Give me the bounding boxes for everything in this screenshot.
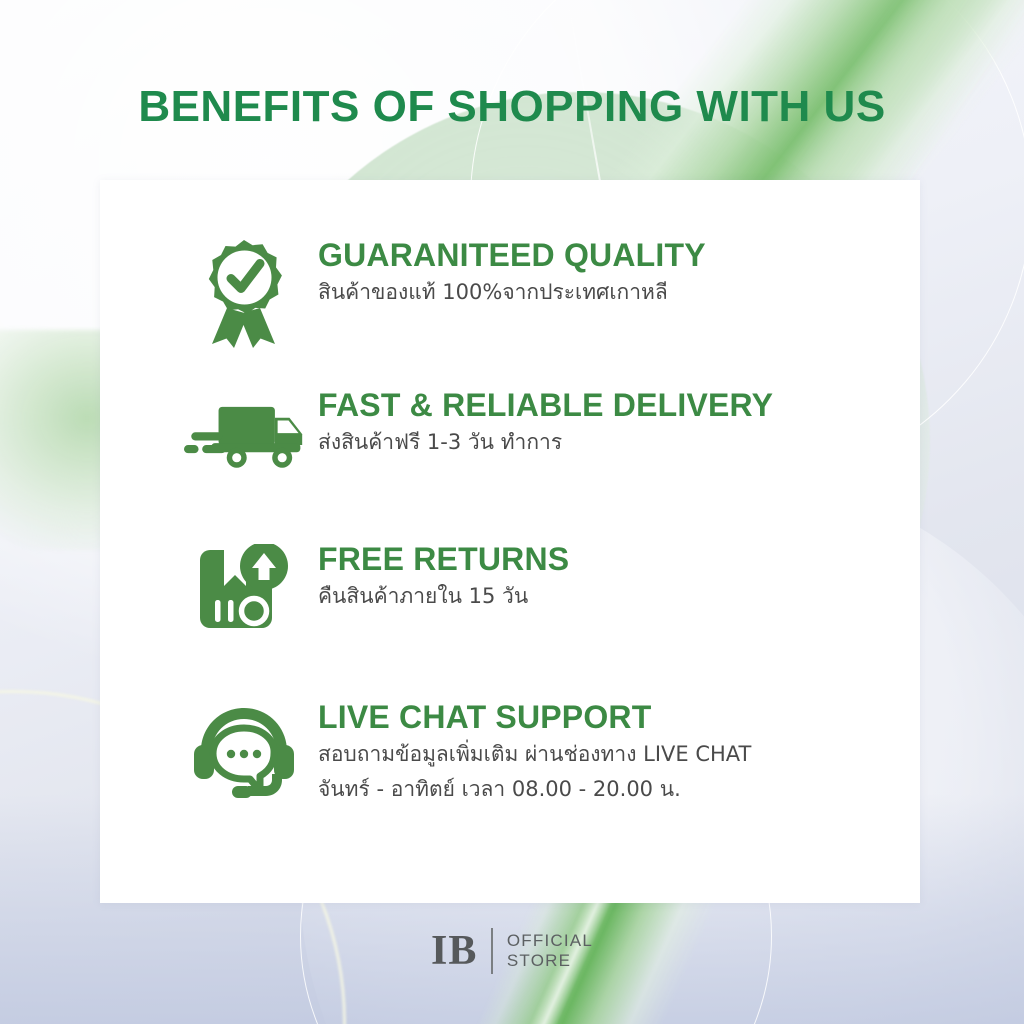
benefit-subtext-line1: สอบถามข้อมูลเพิ่มเติม ผ่านช่องทาง LIVE C…: [318, 739, 751, 771]
page-title: BENEFITS OF SHOPPING WITH US: [0, 82, 1024, 132]
benefits-list: GUARANITEED QUALITY สินค้าของแท้ 100%จาก…: [100, 180, 920, 903]
benefit-text-delivery: FAST & RELIABLE DELIVERY ส่งสินค้าฟรี 1-…: [304, 384, 773, 457]
benefit-heading: FAST & RELIABLE DELIVERY: [318, 388, 773, 423]
delivery-truck-icon: [184, 384, 304, 472]
logo-monogram: IB: [431, 930, 477, 972]
benefits-card: GUARANITEED QUALITY สินค้าของแท้ 100%จาก…: [100, 180, 920, 903]
benefit-heading: GUARANITEED QUALITY: [318, 238, 706, 273]
logo-wordmark: OFFICIAL STORE: [507, 931, 593, 971]
benefit-item-delivery: FAST & RELIABLE DELIVERY ส่งสินค้าฟรี 1-…: [100, 384, 920, 504]
benefit-item-chat: LIVE CHAT SUPPORT สอบถามข้อมูลเพิ่มเติม …: [100, 696, 920, 816]
quality-badge-icon: [184, 234, 304, 348]
benefit-text-returns: FREE RETURNS คืนสินค้าภายใน 15 วัน: [304, 538, 569, 611]
benefit-subtext: ส่งสินค้าฟรี 1-3 วัน ทำการ: [318, 427, 773, 457]
logo-line-store: STORE: [507, 951, 593, 971]
benefit-text-chat: LIVE CHAT SUPPORT สอบถามข้อมูลเพิ่มเติม …: [304, 696, 751, 806]
benefit-item-quality: GUARANITEED QUALITY สินค้าของแท้ 100%จาก…: [100, 234, 920, 354]
benefit-subtext: คืนสินค้าภายใน 15 วัน: [318, 581, 569, 611]
benefit-heading: FREE RETURNS: [318, 542, 569, 577]
logo-divider: [491, 928, 493, 974]
logo-line-official: OFFICIAL: [507, 931, 593, 951]
promo-banner: BENEFITS OF SHOPPING WITH US: [0, 0, 1024, 1024]
return-box-icon: [184, 538, 304, 632]
benefit-item-returns: FREE RETURNS คืนสินค้าภายใน 15 วัน: [100, 538, 920, 658]
benefit-text-quality: GUARANITEED QUALITY สินค้าของแท้ 100%จาก…: [304, 234, 706, 307]
brand-logo: IB OFFICIAL STORE: [0, 928, 1024, 974]
benefit-subtext-line2: จันทร์ - อาทิตย์ เวลา 08.00 - 20.00 น.: [318, 774, 751, 806]
benefit-heading: LIVE CHAT SUPPORT: [318, 700, 751, 735]
benefit-subtext: สินค้าของแท้ 100%จากประเทศเกาหลี: [318, 277, 706, 307]
headset-chat-icon: [184, 696, 304, 806]
